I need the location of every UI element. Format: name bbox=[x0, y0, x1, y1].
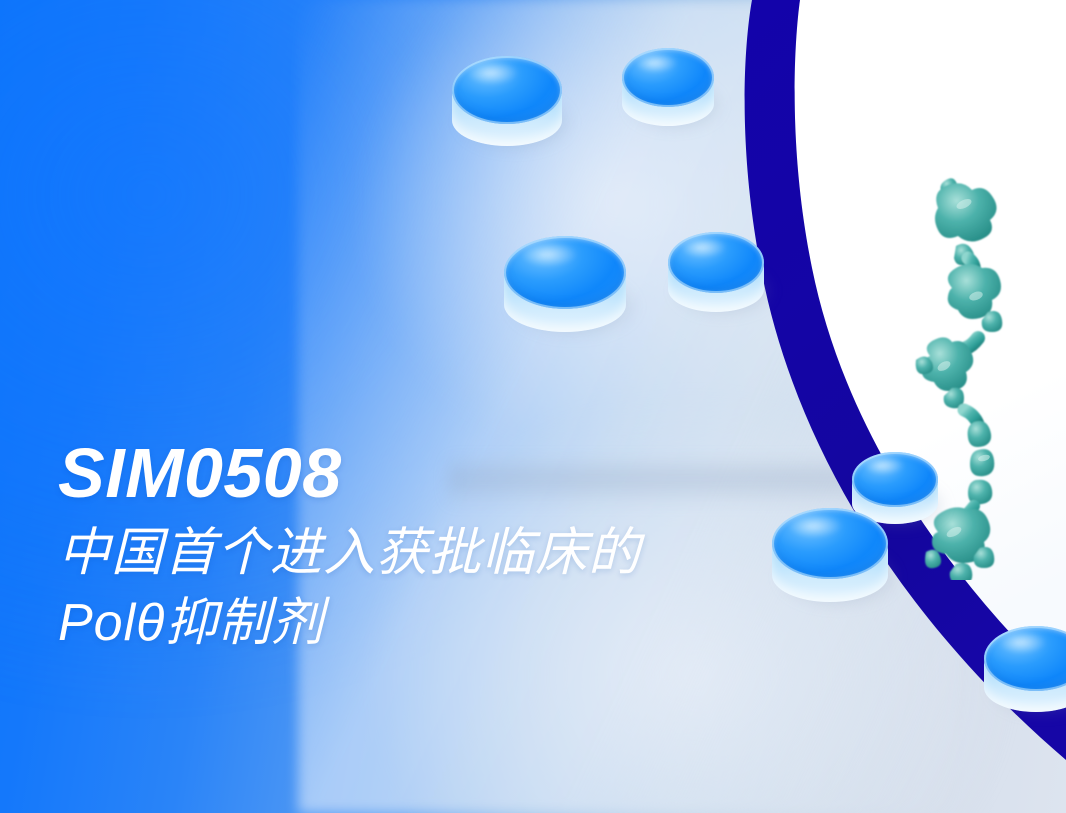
poster-canvas: SIM0508 中国首个进入获批临床的 Polθ抑制剂 bbox=[0, 0, 1066, 813]
tablet-4 bbox=[668, 232, 764, 312]
tablet-gloss bbox=[681, 237, 725, 258]
tablet-gloss bbox=[999, 631, 1047, 653]
tablet-gloss bbox=[467, 61, 518, 84]
product-name-headline: SIM0508 bbox=[58, 438, 838, 508]
subtitle-line-2: Polθ抑制剂 bbox=[58, 594, 838, 652]
subtitle-line-1: 中国首个进入获批临床的 bbox=[58, 524, 838, 582]
tablet-gloss bbox=[521, 242, 577, 267]
headline-text-block: SIM0508 中国首个进入获批临床的 Polθ抑制剂 bbox=[58, 438, 838, 652]
tablet-gloss bbox=[635, 53, 677, 73]
tablet-3 bbox=[504, 236, 626, 332]
tablet-gloss bbox=[864, 456, 904, 475]
tablet-1 bbox=[452, 56, 562, 146]
tablet-2 bbox=[622, 48, 714, 126]
tablet-7 bbox=[984, 626, 1066, 712]
